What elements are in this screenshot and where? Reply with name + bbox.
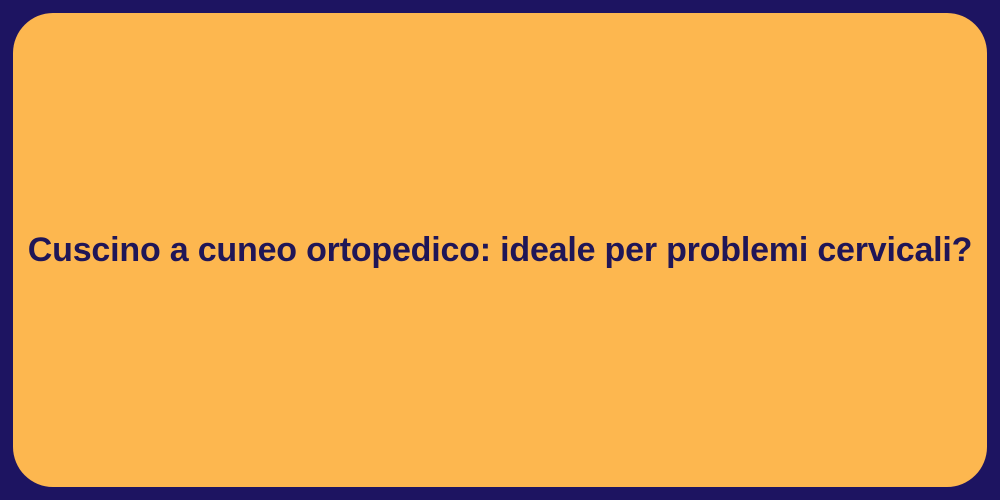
page-title: Cuscino a cuneo ortopedico: ideale per p… [28, 230, 972, 271]
content-card: Cuscino a cuneo ortopedico: ideale per p… [13, 13, 987, 487]
outer-frame: Cuscino a cuneo ortopedico: ideale per p… [0, 0, 1000, 500]
